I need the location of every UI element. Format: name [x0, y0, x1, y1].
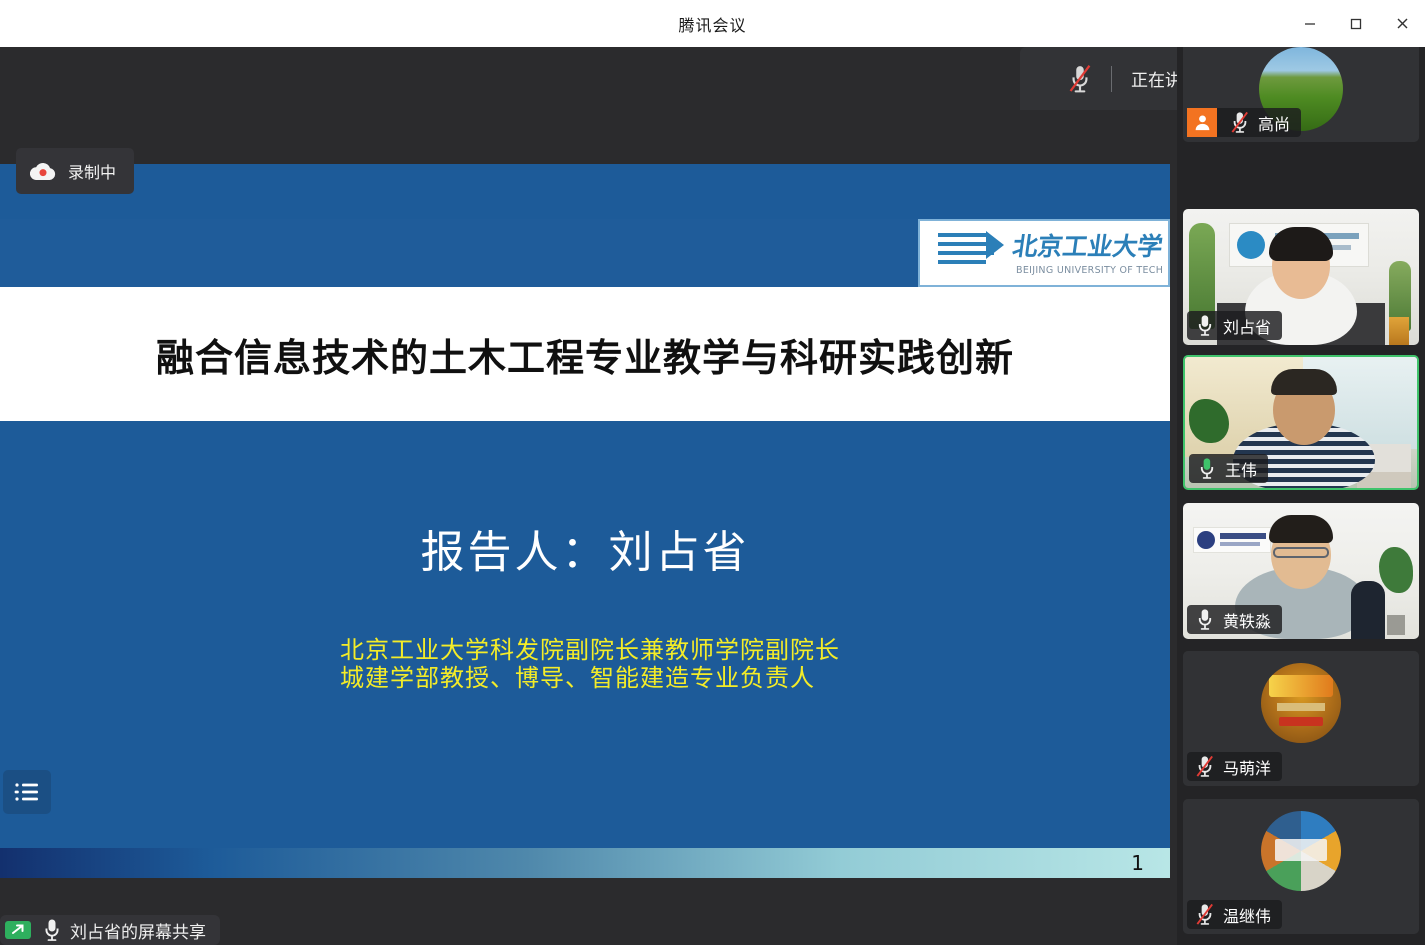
recording-badge[interactable]: 录制中	[16, 148, 134, 194]
screen-share-status[interactable]: 刘占省的屏幕共享	[0, 915, 220, 945]
recording-label: 录制中	[68, 159, 116, 183]
cloud-recording-icon	[30, 162, 56, 181]
close-button[interactable]	[1379, 0, 1425, 47]
window-titlebar: 腾讯会议	[0, 0, 1425, 47]
participant-tile-4[interactable]: 马萌洋	[1183, 651, 1419, 786]
close-icon	[1395, 16, 1410, 31]
mic-active-glyph	[1198, 457, 1216, 480]
participant-name-4: 马萌洋	[1223, 755, 1271, 779]
participant-tile-2[interactable]: 王伟	[1183, 355, 1419, 490]
participant-name-chip-1: 刘占省	[1187, 311, 1282, 340]
participant-name-chip-2: 王伟	[1189, 454, 1268, 483]
participant-rail[interactable]: 高尚	[1177, 47, 1425, 945]
screen-share-icon	[4, 919, 34, 941]
tencent-meeting-window: 腾讯会议	[0, 0, 1425, 945]
buct-logo-icon: 北京工业大学 BEIJING UNIVERSITY OF TECHNOLOGY	[924, 223, 1164, 283]
slide-title-band: 融合信息技术的土木工程专业教学与科研实践创新	[0, 287, 1170, 421]
bottom-bar: 刘占省的屏幕共享	[0, 878, 1170, 945]
participant-name-chip-5: 温继伟	[1187, 900, 1282, 929]
participant-name-3: 黄轶淼	[1223, 608, 1271, 632]
avatar	[1261, 811, 1341, 891]
participant-tile-1[interactable]: 刘占省	[1183, 209, 1419, 345]
mic-on-icon	[43, 918, 61, 942]
window-controls	[1287, 0, 1425, 47]
divider	[1111, 66, 1112, 92]
mic-active-icon	[1194, 456, 1220, 482]
mic-muted-icon	[1067, 64, 1093, 94]
svg-text:BEIJING UNIVERSITY OF TECHNOLO: BEIJING UNIVERSITY OF TECHNOLOGY	[1016, 265, 1164, 276]
slide-outline-toggle-button[interactable]	[3, 770, 51, 814]
person-glyph-icon	[1193, 113, 1212, 132]
participant-tile-3[interactable]: 黄轶淼	[1183, 503, 1419, 639]
slide-title: 融合信息技术的土木工程专业教学与科研实践创新	[156, 327, 1014, 382]
university-logo: 北京工业大学 BEIJING UNIVERSITY OF TECHNOLOGY	[918, 219, 1170, 287]
mic-muted-icon	[1192, 902, 1218, 928]
slide-footer-bar: 1	[0, 848, 1170, 878]
minimize-icon	[1303, 17, 1317, 31]
window-title: 腾讯会议	[678, 12, 746, 36]
mic-on-icon	[1192, 313, 1218, 339]
mic-on-glyph	[1196, 314, 1214, 337]
participant-tile-0[interactable]: 高尚	[1183, 47, 1419, 142]
slide-affiliation-line-1: 北京工业大学科发院副院长兼教师学院副院长	[340, 636, 1040, 664]
minimize-button[interactable]	[1287, 0, 1333, 47]
slide-body: 报告人：刘占省 北京工业大学科发院副院长兼教师学院副院长 城建学部教授、博导、智…	[0, 421, 1170, 848]
slide-affiliation-line-2: 城建学部教授、博导、智能建造专业负责人	[340, 664, 1040, 692]
participant-name-0: 高尚	[1258, 111, 1290, 135]
mic-muted-glyph	[1195, 903, 1215, 926]
mic-on-icon	[1192, 607, 1218, 633]
mic-muted-icon	[1192, 754, 1218, 780]
participant-name-2: 王伟	[1225, 457, 1257, 481]
participant-name-1: 刘占省	[1223, 314, 1271, 338]
participant-tile-5[interactable]: 温继伟	[1183, 799, 1419, 934]
person-avatar-icon	[1187, 108, 1217, 137]
mic-on-glyph	[1196, 608, 1214, 631]
maximize-icon	[1349, 17, 1363, 31]
meeting-body: 正在讲话: 王伟; 录制中	[0, 47, 1425, 945]
mic-muted-icon	[1227, 110, 1253, 136]
participant-name-chip-4: 马萌洋	[1187, 752, 1282, 781]
maximize-button[interactable]	[1333, 0, 1379, 47]
svg-text:北京工业大学: 北京工业大学	[1011, 232, 1164, 261]
screen-share-label: 刘占省的屏幕共享	[70, 918, 206, 943]
slide-page-number: 1	[1131, 851, 1144, 875]
outline-list-icon	[14, 782, 40, 802]
mic-muted-glyph	[1230, 111, 1250, 134]
participant-name-5: 温继伟	[1223, 903, 1271, 927]
slide-affiliation: 北京工业大学科发院副院长兼教师学院副院长 城建学部教授、博导、智能建造专业负责人	[340, 636, 1040, 692]
slide-presenter: 报告人：刘占省	[0, 516, 1170, 580]
shared-screen[interactable]: 北京工业大学 BEIJING UNIVERSITY OF TECHNOLOGY …	[0, 164, 1170, 878]
participant-name-chip-0: 高尚	[1187, 108, 1301, 137]
mic-muted-glyph	[1195, 755, 1215, 778]
avatar	[1261, 663, 1341, 743]
participant-name-chip-3: 黄轶淼	[1187, 605, 1282, 634]
slide-header-band: 北京工业大学 BEIJING UNIVERSITY OF TECHNOLOGY	[0, 219, 1170, 287]
